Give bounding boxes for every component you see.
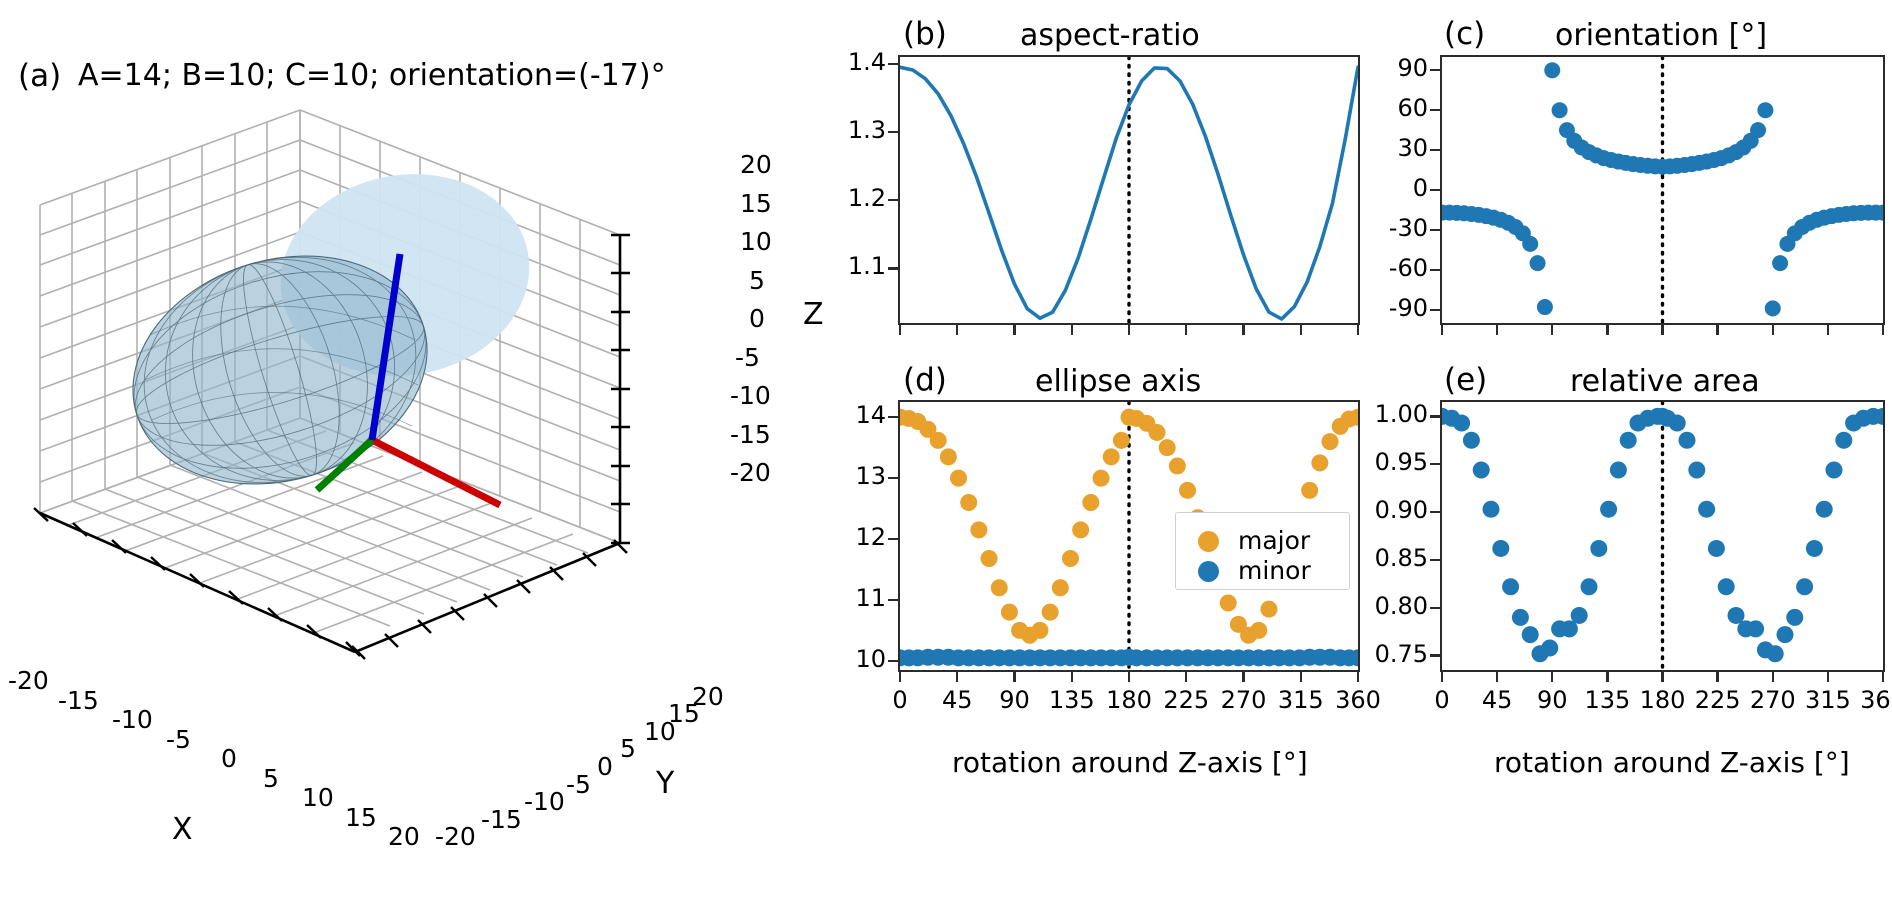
- panel-b-plot-area[interactable]: [898, 55, 1360, 325]
- panel-b-y-tickmark: [888, 199, 898, 201]
- x-tick-2: -10: [112, 705, 153, 734]
- x-tick-6: 10: [302, 783, 334, 812]
- panel-e-x-tickmark: [1716, 671, 1718, 682]
- panel-e-y-tickmark: [1430, 607, 1440, 609]
- panel-c-y-ticklabel: -90: [1389, 294, 1428, 322]
- figure-root: (a) A=14; B=10; C=10; orientation=(-17)°: [0, 0, 1892, 903]
- x-tick-7: 15: [345, 803, 377, 832]
- panel-d-x-tickmark: [1128, 671, 1130, 682]
- panel-d-x-ticklabel: 135: [1049, 686, 1095, 714]
- x-tick-0: -20: [8, 666, 49, 695]
- z-tick-2: 10: [740, 227, 772, 256]
- panel-e-x-tickmark: [1441, 671, 1443, 682]
- panel-a-label: (a): [18, 58, 61, 94]
- panel-a-3d-axes: [0, 100, 800, 740]
- panel-e-x-ticklabel: 360: [1860, 686, 1892, 714]
- panel-a-title: A=14; B=10; C=10; orientation=(-17)°: [78, 58, 666, 93]
- panel-e-title: relative area: [1570, 364, 1760, 399]
- panel-c-y-tickmark: [1430, 269, 1440, 271]
- panel-e-canvas: [1442, 402, 1883, 670]
- panel-d-y-ticklabel: 14: [855, 401, 886, 429]
- panel-d-x-ticklabel: 315: [1278, 686, 1324, 714]
- panel-c-y-ticklabel: -30: [1389, 214, 1428, 242]
- panel-e-x-axis-label: rotation around Z-axis [°]: [1494, 746, 1850, 779]
- panel-c-y-tickmark: [1430, 229, 1440, 231]
- panel-d-y-ticklabel: 12: [855, 523, 886, 551]
- panel-e-y-ticklabel: 0.95: [1375, 448, 1428, 476]
- panel-b-y-ticklabel: 1.2: [848, 184, 886, 212]
- panel-e-x-ticklabel: 45: [1482, 686, 1513, 714]
- axis-y-spine: [352, 540, 627, 659]
- panel-d-x-tickmark: [1357, 671, 1359, 682]
- panel-d-y-tickmark: [888, 538, 898, 540]
- x-tick-4: 0: [221, 744, 237, 773]
- panel-e-y-tickmark: [1430, 415, 1440, 417]
- panel-c-y-ticklabel: -60: [1389, 254, 1428, 282]
- panel-b-x-tickmark: [1013, 324, 1015, 335]
- y-tick-8: 20: [692, 682, 724, 711]
- panel-d-x-tickmark: [1185, 671, 1187, 682]
- panel-e-y-tickmark: [1430, 654, 1440, 656]
- x-tick-8: 20: [388, 822, 420, 851]
- panel-d-x-ticklabel: 45: [942, 686, 973, 714]
- x-tick-3: -5: [166, 725, 191, 754]
- legend-label-minor: minor: [1238, 556, 1311, 585]
- panel-c-x-tickmark: [1551, 324, 1553, 335]
- panel-e-y-tickmark: [1430, 463, 1440, 465]
- z-tick-1: 15: [740, 189, 772, 218]
- panel-d-y-tickmark: [888, 660, 898, 662]
- panel-e-x-tickmark: [1606, 671, 1608, 682]
- panel-c-x-tickmark: [1827, 324, 1829, 335]
- panel-c-y-tickmark: [1430, 149, 1440, 151]
- panel-d-y-tickmark: [888, 599, 898, 601]
- panel-c-y-ticklabel: 90: [1397, 54, 1428, 82]
- panel-e-y-ticklabel: 0.75: [1375, 640, 1428, 668]
- panel-e-x-ticklabel: 135: [1584, 686, 1630, 714]
- panel-e-y-ticklabel: 0.80: [1375, 592, 1428, 620]
- z-tick-6: -10: [730, 381, 771, 410]
- panel-e-x-tickmark: [1827, 671, 1829, 682]
- panel-d-x-tickmark: [1071, 671, 1073, 682]
- panel-e-y-ticklabel: 0.90: [1375, 496, 1428, 524]
- panel-b-x-tickmark: [1185, 324, 1187, 335]
- x-tick-1: -15: [58, 686, 99, 715]
- panel-e-x-tickmark: [1551, 671, 1553, 682]
- axis-x-spine: [34, 508, 360, 656]
- y-tick-5: 5: [620, 734, 636, 763]
- panel-d-title: ellipse axis: [1035, 364, 1201, 399]
- z-tick-3: 5: [749, 266, 765, 295]
- panel-d-x-tickmark: [1013, 671, 1015, 682]
- panel-e-x-ticklabel: 225: [1695, 686, 1741, 714]
- panel-b-x-tickmark: [899, 324, 901, 335]
- panel-e-y-tickmark: [1430, 511, 1440, 513]
- y-tick-0: -20: [435, 822, 476, 851]
- panel-d-x-ticklabel: 180: [1106, 686, 1152, 714]
- panel-b-y-ticklabel: 1.1: [848, 252, 886, 280]
- panel-a-y-axis-name: Y: [656, 766, 674, 801]
- panel-c-title: orientation [°]: [1555, 18, 1767, 53]
- panel-e-y-ticklabel: 0.85: [1375, 544, 1428, 572]
- panel-e-x-tickmark: [1496, 671, 1498, 682]
- panel-d-x-ticklabel: 0: [892, 686, 907, 714]
- panel-a-x-axis-name: X: [172, 812, 193, 847]
- z-tick-7: -15: [730, 420, 771, 449]
- panel-d-y-ticklabel: 10: [855, 645, 886, 673]
- panel-e-label: (e): [1444, 362, 1487, 398]
- panel-b-y-tickmark: [888, 267, 898, 269]
- panel-d-label: (d): [903, 362, 947, 398]
- panel-c-y-ticklabel: 60: [1397, 94, 1428, 122]
- panel-d-x-tickmark: [1242, 671, 1244, 682]
- panel-e-x-tickmark: [1882, 671, 1884, 682]
- panel-c-x-tickmark: [1661, 324, 1663, 335]
- panel-b-y-tickmark: [888, 63, 898, 65]
- panel-b-title: aspect-ratio: [1020, 18, 1200, 53]
- panel-c-x-tickmark: [1772, 324, 1774, 335]
- panel-e-x-ticklabel: 90: [1537, 686, 1568, 714]
- panel-c-y-tickmark: [1430, 109, 1440, 111]
- panel-d-x-tickmark: [1300, 671, 1302, 682]
- axis-z-spine: [611, 235, 630, 543]
- y-tick-4: 0: [597, 752, 613, 781]
- panel-c-y-ticklabel: 0: [1413, 174, 1428, 202]
- panel-c-plot-area[interactable]: [1440, 55, 1885, 325]
- panel-d-x-ticklabel: 90: [999, 686, 1030, 714]
- panel-c-x-tickmark: [1606, 324, 1608, 335]
- panel-c-y-ticklabel: 30: [1397, 134, 1428, 162]
- panel-d-x-tickmark: [956, 671, 958, 682]
- panel-b-x-tickmark: [1300, 324, 1302, 335]
- legend-marker-major: [1198, 531, 1219, 552]
- z-tick-8: -20: [730, 458, 771, 487]
- panel-b-x-tickmark: [956, 324, 958, 335]
- y-tick-3: -5: [566, 770, 591, 799]
- panel-b-x-tickmark: [1128, 324, 1130, 335]
- panel-e-x-tickmark: [1661, 671, 1663, 682]
- panel-c-y-tickmark: [1430, 69, 1440, 71]
- panel-d-x-ticklabel: 225: [1163, 686, 1209, 714]
- panel-b-y-ticklabel: 1.4: [848, 48, 886, 76]
- panel-d-x-axis-label: rotation around Z-axis [°]: [952, 746, 1308, 779]
- panel-b-x-tickmark: [1071, 324, 1073, 335]
- panel-b-x-tickmark: [1242, 324, 1244, 335]
- panel-c-y-tickmark: [1430, 189, 1440, 191]
- panel-b-x-tickmark: [1357, 324, 1359, 335]
- legend-marker-minor: [1198, 561, 1219, 582]
- panel-c-x-tickmark: [1716, 324, 1718, 335]
- panel-b-y-ticklabel: 1.3: [848, 116, 886, 144]
- panel-d-y-ticklabel: 11: [855, 584, 886, 612]
- panel-e-x-ticklabel: 270: [1750, 686, 1796, 714]
- panel-e-x-ticklabel: 180: [1640, 686, 1686, 714]
- panel-e-x-ticklabel: 315: [1805, 686, 1851, 714]
- panel-e-x-tickmark: [1772, 671, 1774, 682]
- x-tick-5: 5: [263, 764, 279, 793]
- panel-c-x-tickmark: [1882, 324, 1884, 335]
- panel-e-y-tickmark: [1430, 559, 1440, 561]
- legend-label-major: major: [1238, 526, 1310, 555]
- panel-d-y-tickmark: [888, 416, 898, 418]
- panel-d-y-tickmark: [888, 477, 898, 479]
- panel-c-x-tickmark: [1441, 324, 1443, 335]
- panel-d-x-tickmark: [899, 671, 901, 682]
- z-tick-0: 20: [740, 150, 772, 179]
- panel-a-z-axis-name: Z: [803, 297, 824, 332]
- panel-b-y-tickmark: [888, 131, 898, 133]
- y-tick-1: -15: [481, 805, 522, 834]
- panel-c-canvas: [1442, 57, 1883, 323]
- panel-e-x-ticklabel: 0: [1434, 686, 1449, 714]
- panel-b-canvas: [900, 57, 1358, 323]
- panel-d-x-ticklabel: 270: [1221, 686, 1267, 714]
- panel-b-label: (b): [903, 16, 947, 52]
- panel-d-x-ticklabel: 360: [1335, 686, 1381, 714]
- z-tick-5: -5: [735, 343, 760, 372]
- panel-d-y-ticklabel: 13: [855, 462, 886, 490]
- panel-c-x-tickmark: [1496, 324, 1498, 335]
- panel-e-y-ticklabel: 1.00: [1375, 400, 1428, 428]
- y-tick-2: -10: [524, 787, 565, 816]
- panel-c-y-tickmark: [1430, 309, 1440, 311]
- panel-d-legend[interactable]: major minor: [1175, 512, 1350, 590]
- panel-e-plot-area[interactable]: [1440, 400, 1885, 672]
- z-tick-4: 0: [749, 304, 765, 333]
- panel-c-label: (c): [1444, 16, 1485, 52]
